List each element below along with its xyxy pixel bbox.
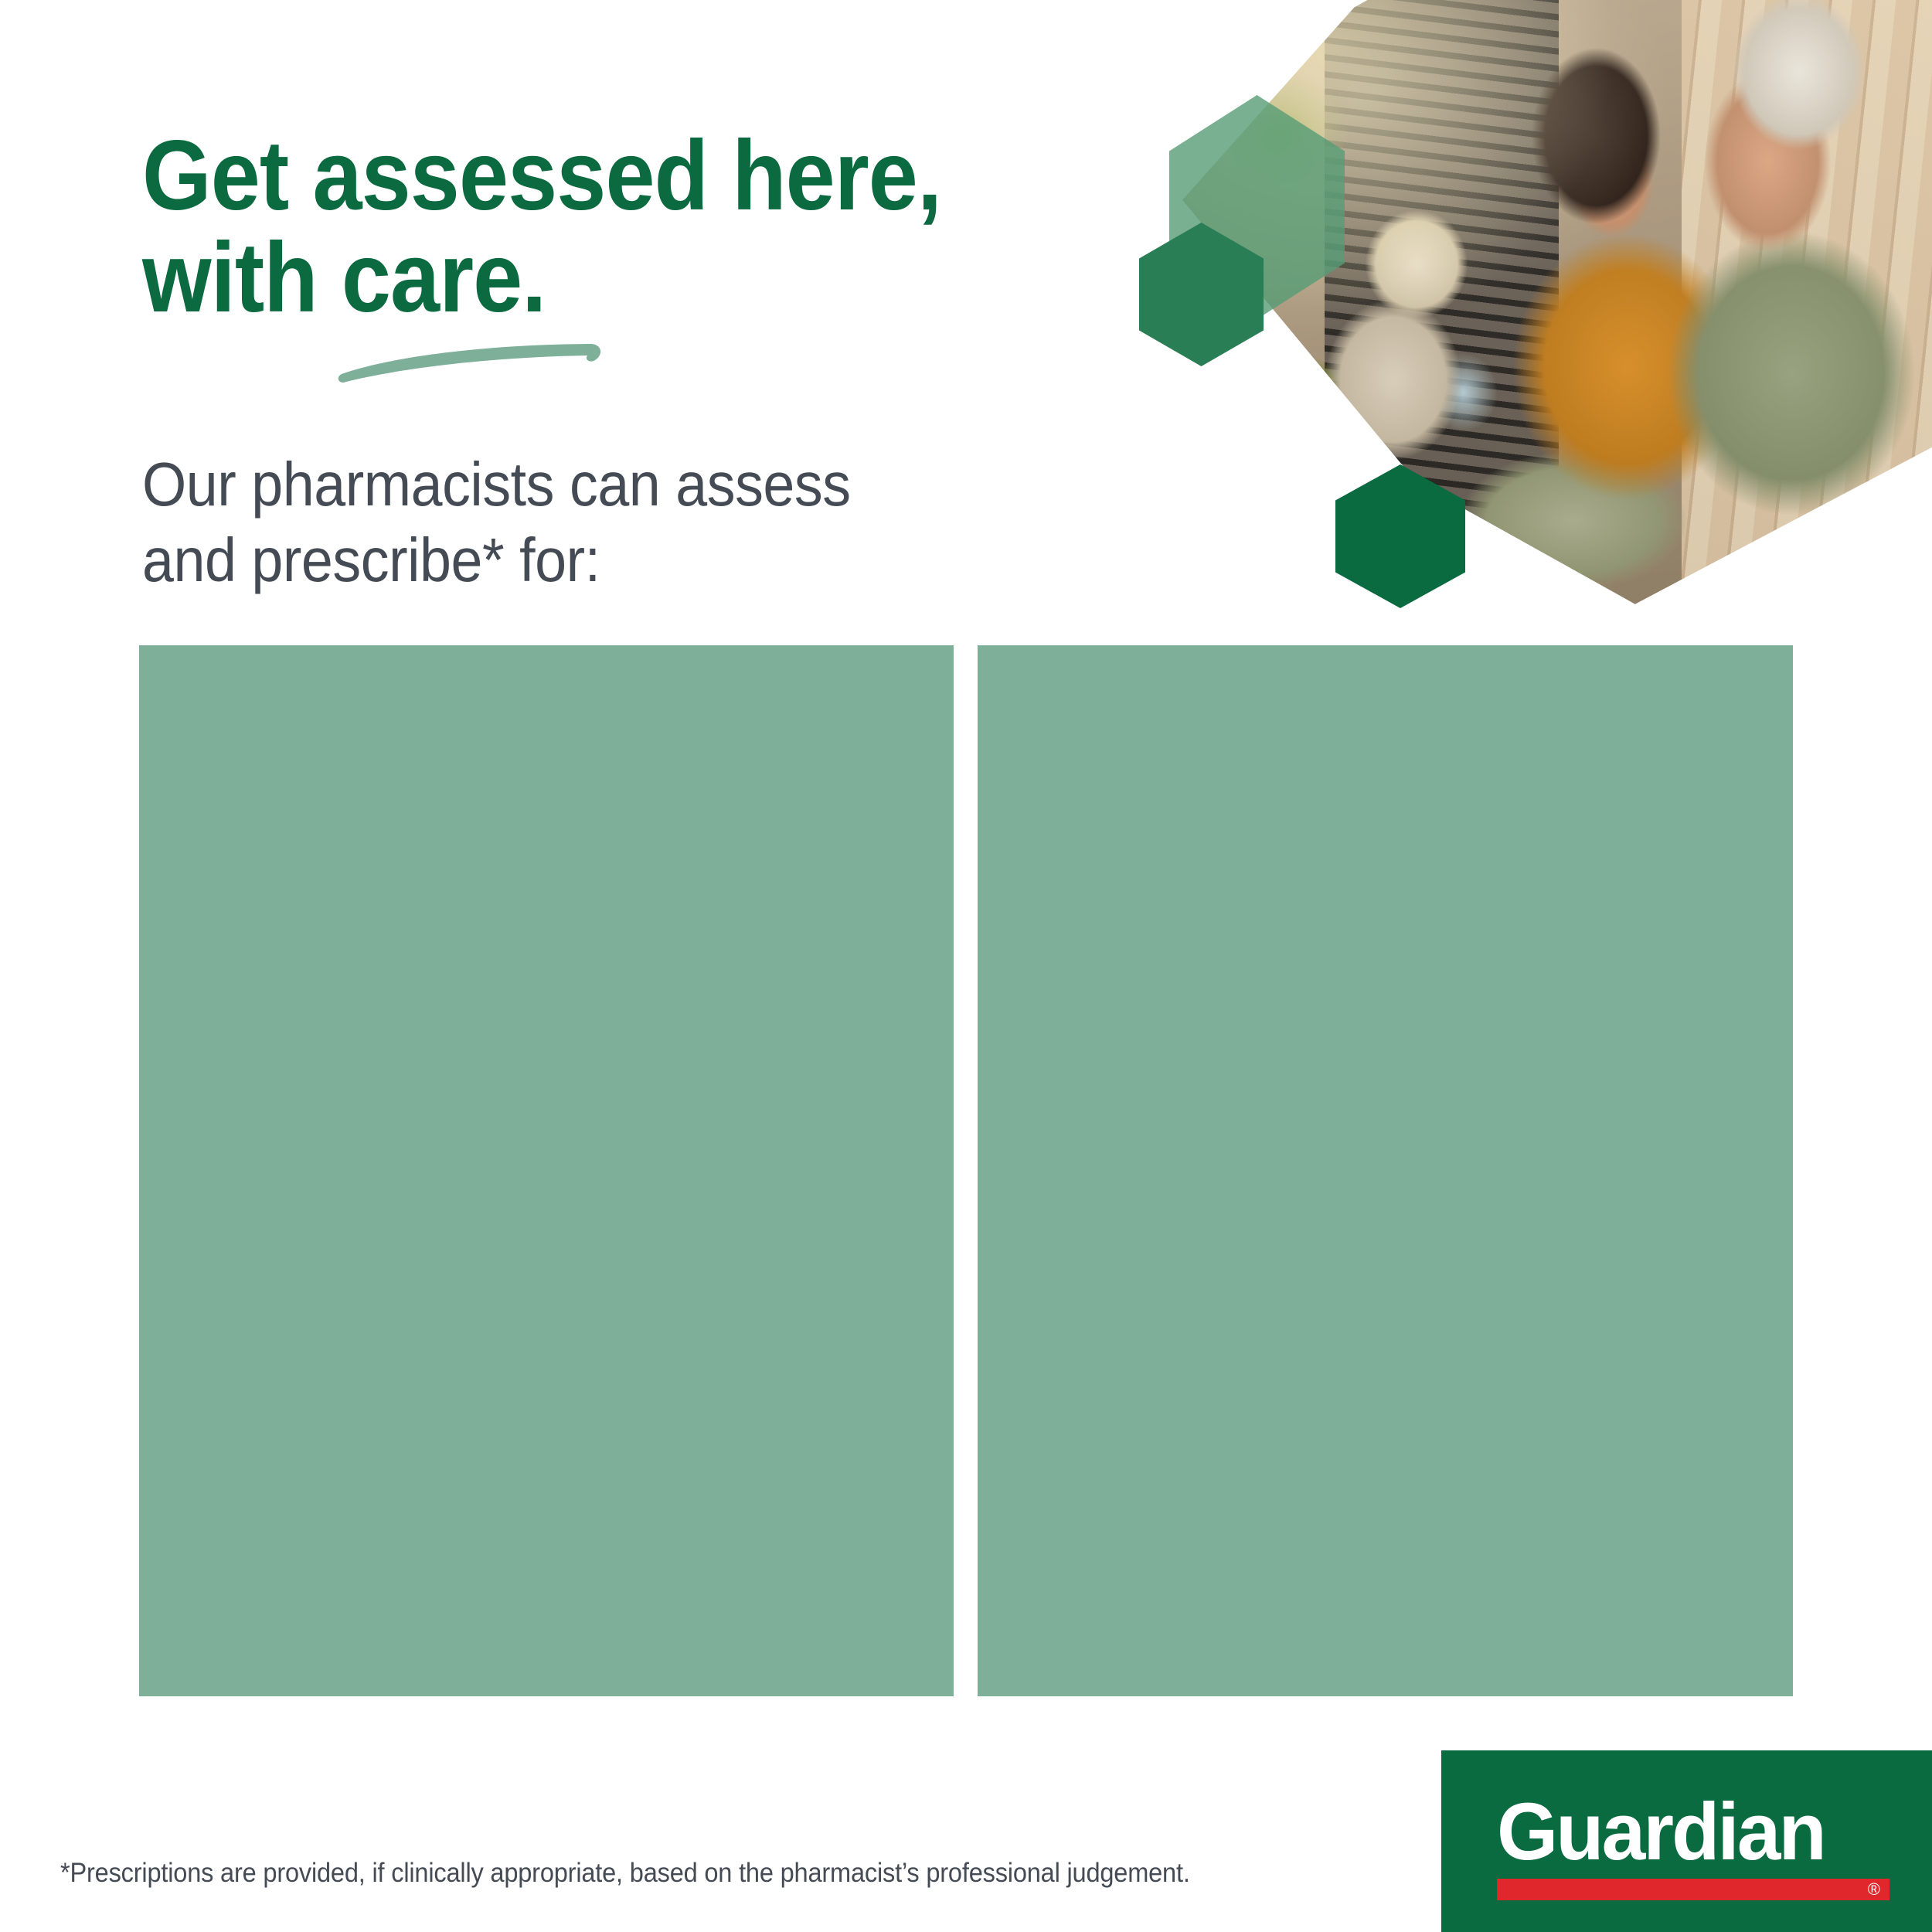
subheading: Our pharmacists can assess and prescribe… <box>142 447 924 597</box>
content-panel-right[interactable] <box>978 645 1793 1696</box>
guardian-logo[interactable]: Guardian ® <box>1441 1750 1932 1932</box>
guardian-logo-inner: Guardian ® <box>1497 1794 1891 1900</box>
registered-trademark-icon: ® <box>1868 1881 1880 1898</box>
swoosh-underline-icon <box>335 334 606 383</box>
guardian-logo-red-bar: ® <box>1497 1879 1889 1900</box>
poster-canvas: Get assessed here, with care. Our pharma… <box>0 0 1932 1932</box>
guardian-wordmark: Guardian <box>1497 1794 1879 1871</box>
hero-photo <box>1182 0 1932 611</box>
footnote-text: *Prescriptions are provided, if clinical… <box>60 1858 1190 1889</box>
hero-photo-overlay <box>1182 0 1932 611</box>
content-panel-left[interactable] <box>139 645 954 1696</box>
page-title: Get assessed here, with care. <box>142 125 1012 329</box>
content-panels <box>139 645 1793 1696</box>
